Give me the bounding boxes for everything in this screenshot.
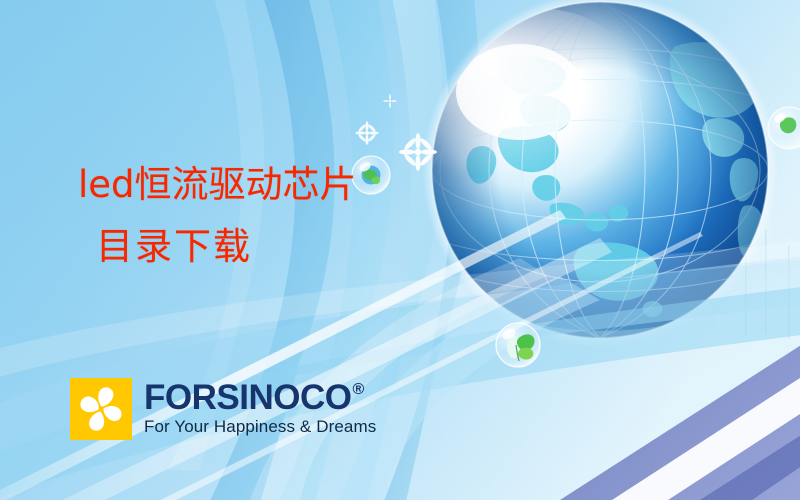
bubble-with-mini-globe	[352, 156, 390, 194]
logo-text-block: FORSINOCO ® For Your Happiness & Dreams	[144, 380, 376, 437]
logo-tagline: For Your Happiness & Dreams	[144, 417, 376, 437]
logo-mark-icon	[70, 378, 132, 440]
pinwheel-petals-icon	[70, 378, 132, 440]
logo-wordmark-text: FORSINOCO	[144, 380, 351, 416]
promo-banner: led恒流驱动芯片 目录下载 FORSINOCO ® For Your Happ…	[0, 0, 800, 500]
logo-wordmark: FORSINOCO ®	[144, 380, 376, 416]
company-logo[interactable]: FORSINOCO ® For Your Happiness & Dreams	[70, 378, 376, 440]
registered-trademark-icon: ®	[352, 382, 363, 398]
bubble-with-green-leaves	[496, 323, 540, 367]
